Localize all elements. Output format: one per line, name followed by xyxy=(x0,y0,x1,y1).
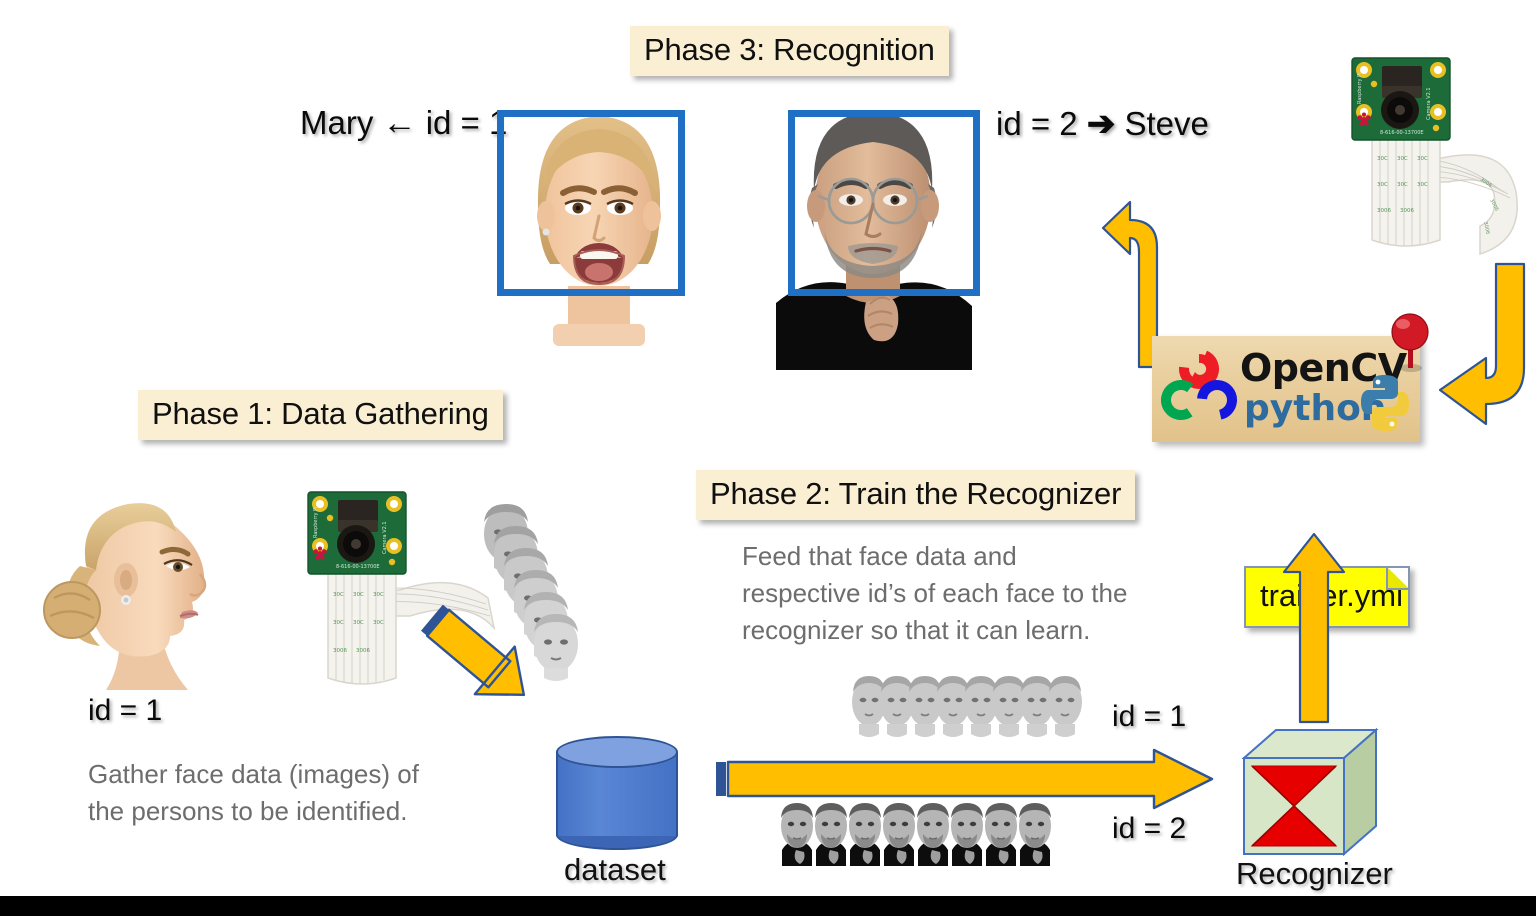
svg-text:30C: 30C xyxy=(373,620,384,626)
arrow-camera-to-opencv xyxy=(1424,258,1536,433)
steve-name-text: Steve xyxy=(1125,105,1209,142)
svg-text:30C: 30C xyxy=(373,592,384,598)
recognizer-cube-icon xyxy=(1238,724,1382,862)
recognizer-cube-svg xyxy=(1238,724,1382,862)
right-arrow-glyph: ➔ xyxy=(1087,105,1116,143)
svg-text:3006: 3006 xyxy=(1377,208,1391,214)
svg-text:30C: 30C xyxy=(353,620,364,626)
mary-name-text: Mary xyxy=(300,104,373,141)
svg-text:30C: 30C xyxy=(1397,156,1408,162)
svg-text:30C: 30C xyxy=(353,592,364,598)
svg-text:3006: 3006 xyxy=(356,648,370,654)
phase2-id2-label: id = 2 xyxy=(1112,812,1186,846)
dataset-label: dataset xyxy=(564,852,666,888)
python-logo-icon xyxy=(1354,372,1416,434)
phase2-banner: Phase 2: Train the Recognizer xyxy=(696,470,1135,520)
arrow-dataset-to-recognizer xyxy=(714,748,1220,810)
note-fold-corner xyxy=(1386,568,1408,590)
steve-face-photo xyxy=(748,88,998,370)
svg-text:30C: 30C xyxy=(1417,156,1428,162)
arrow-right-long-svg xyxy=(714,748,1220,810)
phase1-desc-line1: Gather face data (images) of xyxy=(88,756,488,793)
profile-face-photo xyxy=(20,470,270,690)
svg-text:30C: 30C xyxy=(1417,182,1428,188)
svg-text:30C: 30C xyxy=(333,592,344,598)
mary-face-row-svg xyxy=(850,668,1100,740)
bottom-bar xyxy=(0,896,1536,916)
mary-recognition-label: Mary ← id = 1 xyxy=(300,104,507,143)
phase2-desc-line3: recognizer so that it can learn. xyxy=(742,612,1202,649)
red-pushpin-icon xyxy=(1384,310,1440,376)
steve-recognition-label: id = 2 ➔ Steve xyxy=(996,104,1209,144)
phase1-desc-line2: the persons to be identified. xyxy=(88,793,488,830)
svg-text:30C: 30C xyxy=(1397,182,1408,188)
training-face-row-id1 xyxy=(850,668,1100,740)
left-arrow-glyph: ← xyxy=(383,104,417,142)
arrow-diagonal-svg xyxy=(400,610,580,740)
database-cylinder-icon xyxy=(556,736,678,852)
opencv-logo-icon xyxy=(1160,350,1238,428)
recognizer-label: Recognizer xyxy=(1236,856,1393,892)
pi-camera-svg-top: 3006 3006 3006 30C30C30C 30C30C30C 30063… xyxy=(1330,40,1536,260)
phase1-description: Gather face data (images) of the persons… xyxy=(88,756,488,830)
mary-face-drawing xyxy=(508,96,690,346)
profile-face-drawing xyxy=(20,470,270,690)
svg-text:30C: 30C xyxy=(1377,182,1388,188)
raspberry-pi-camera-icon-top: 3006 3006 3006 30C30C30C 30C30C30C 30063… xyxy=(1330,40,1536,260)
phase2-description: Feed that face data and respective id’s … xyxy=(742,538,1202,649)
svg-text:8-616-00-13700E: 8-616-00-13700E xyxy=(336,564,380,570)
svg-text:30C: 30C xyxy=(333,620,344,626)
svg-text:3006: 3006 xyxy=(333,648,347,654)
svg-text:Camera V2.1: Camera V2.1 xyxy=(382,521,388,554)
cylinder-top xyxy=(556,736,678,768)
phase1-id-label: id = 1 xyxy=(88,694,162,728)
phase1-banner: Phase 1: Data Gathering xyxy=(138,390,503,440)
arrow-capture-to-dataset xyxy=(400,610,580,740)
arrow-up-svg xyxy=(1278,530,1350,726)
phase3-banner: Phase 3: Recognition xyxy=(630,26,949,76)
svg-text:30C: 30C xyxy=(1377,156,1388,162)
steve-face-drawing xyxy=(748,88,998,370)
svg-text:Raspberry Pi: Raspberry Pi xyxy=(1357,73,1363,104)
mary-face-photo xyxy=(508,96,690,346)
svg-text:Raspberry Pi: Raspberry Pi xyxy=(313,507,319,538)
arrow-recognizer-to-trainer xyxy=(1278,530,1350,726)
svg-text:8-616-00-13700E: 8-616-00-13700E xyxy=(1380,130,1424,136)
svg-text:3006: 3006 xyxy=(1400,208,1414,214)
arrow-down-left-svg xyxy=(1424,258,1536,433)
phase2-desc-line1: Feed that face data and xyxy=(742,538,1202,575)
phase2-id1-label: id = 1 xyxy=(1112,700,1186,734)
svg-text:Camera V2.1: Camera V2.1 xyxy=(1426,87,1432,120)
mary-id-text: id = 1 xyxy=(426,104,508,141)
phase2-desc-line2: respective id’s of each face to the xyxy=(742,575,1202,612)
steve-id-text: id = 2 xyxy=(996,105,1078,142)
opencv-python-plaque: OpenCV python xyxy=(1152,336,1420,442)
diagram-canvas: Phase 3: Recognition Mary ← id = 1 id = … xyxy=(0,0,1536,916)
